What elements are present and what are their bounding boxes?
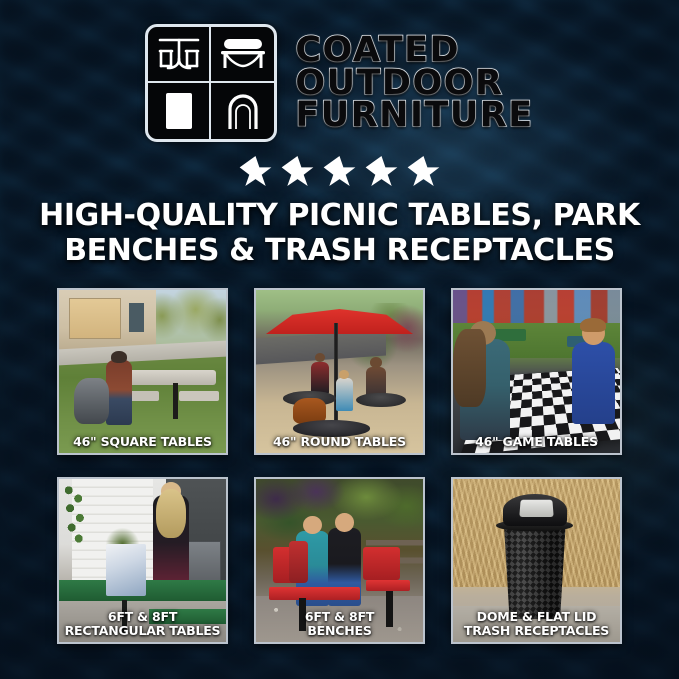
product-photo bbox=[453, 290, 620, 453]
product-tile-grid: 46" SQUARE TABLES 46" ROUND TABLES bbox=[57, 288, 622, 644]
logo-icon-grid bbox=[145, 24, 277, 142]
star-icon bbox=[407, 156, 440, 189]
headline: HIGH-QUALITY PICNIC TABLES, PARK BENCHES… bbox=[0, 198, 679, 268]
product-tile-square-tables[interactable]: 46" SQUARE TABLES bbox=[57, 288, 228, 455]
tile-caption: 46" GAME TABLES bbox=[453, 435, 620, 449]
tile-caption: 46" SQUARE TABLES bbox=[59, 435, 226, 449]
tile-caption-line-1: 6FT & 8FT bbox=[259, 610, 420, 624]
tile-caption-line-2: RECTANGULAR TABLES bbox=[62, 624, 223, 638]
tile-caption-line-2: BENCHES bbox=[259, 624, 420, 638]
product-photo bbox=[59, 290, 226, 453]
tile-caption-line-1: 6FT & 8FT bbox=[62, 610, 223, 624]
headline-line-1: HIGH-QUALITY PICNIC TABLES, PARK bbox=[0, 198, 679, 233]
bench-icon bbox=[211, 27, 274, 83]
star-icon bbox=[239, 156, 272, 189]
star-icon bbox=[323, 156, 356, 189]
tile-caption: DOME & FLAT LID TRASH RECEPTACLES bbox=[453, 610, 620, 638]
trash-receptacle-icon bbox=[148, 83, 211, 139]
wordmark-line-3: FURNITURE bbox=[295, 99, 533, 132]
headline-line-2: BENCHES & TRASH RECEPTACLES bbox=[0, 233, 679, 268]
tile-caption: 6FT & 8FT RECTANGULAR TABLES bbox=[59, 610, 226, 638]
brand-logo: COATED OUTDOOR FURNITURE bbox=[0, 24, 679, 142]
star-icon bbox=[281, 156, 314, 189]
product-photo bbox=[256, 290, 423, 453]
product-banner: COATED OUTDOOR FURNITURE HIGH-QUALITY PI… bbox=[0, 0, 679, 679]
tile-caption-line-1: 46" GAME TABLES bbox=[456, 435, 617, 449]
wordmark-line-1: COATED bbox=[295, 34, 460, 67]
bike-rack-icon bbox=[211, 83, 274, 139]
product-tile-rectangular-tables[interactable]: 6FT & 8FT RECTANGULAR TABLES bbox=[57, 477, 228, 644]
product-tile-game-tables[interactable]: 46" GAME TABLES bbox=[451, 288, 622, 455]
brand-wordmark: COATED OUTDOOR FURNITURE bbox=[295, 34, 533, 132]
tile-caption-line-1: 46" ROUND TABLES bbox=[259, 435, 420, 449]
tile-caption: 46" ROUND TABLES bbox=[256, 435, 423, 449]
tile-caption-line-1: DOME & FLAT LID bbox=[456, 610, 617, 624]
product-tile-trash-receptacles[interactable]: DOME & FLAT LID TRASH RECEPTACLES bbox=[451, 477, 622, 644]
tile-caption: 6FT & 8FT BENCHES bbox=[256, 610, 423, 638]
product-tile-round-tables[interactable]: 46" ROUND TABLES bbox=[254, 288, 425, 455]
star-icon bbox=[365, 156, 398, 189]
tile-caption-line-1: 46" SQUARE TABLES bbox=[62, 435, 223, 449]
star-rating bbox=[0, 156, 679, 189]
picnic-table-icon bbox=[148, 27, 211, 83]
product-tile-benches[interactable]: 6FT & 8FT BENCHES bbox=[254, 477, 425, 644]
tile-caption-line-2: TRASH RECEPTACLES bbox=[456, 624, 617, 638]
